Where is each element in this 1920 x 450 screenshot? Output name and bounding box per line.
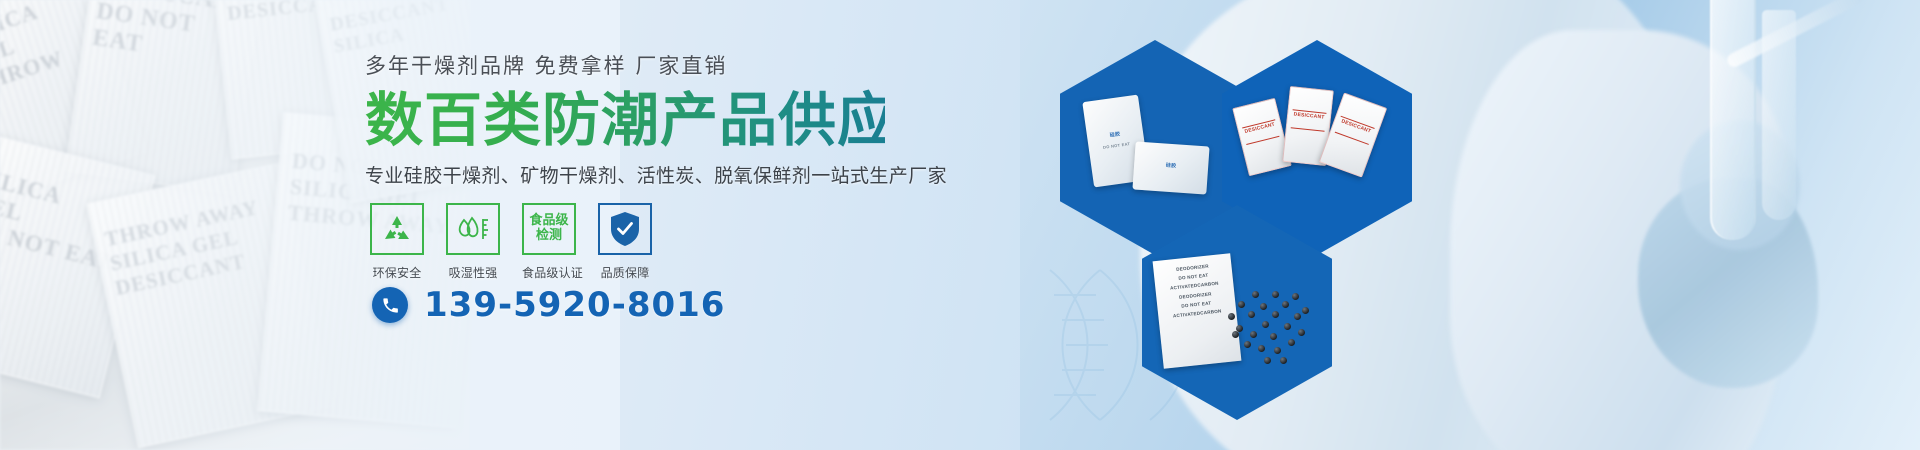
- phone-icon-circle: [372, 287, 408, 323]
- food-grade-line-2: 检测: [536, 229, 562, 244]
- packet-band-text-3: DESICCANT: [1335, 115, 1375, 145]
- badge-high-absorption[interactable]: 吸湿性强: [446, 203, 500, 281]
- phone-icon: [381, 296, 400, 315]
- badge-food-grade-box: 食品级 检测: [522, 203, 576, 255]
- food-grade-line-1: 食品级: [529, 214, 568, 229]
- banner-text-block: 多年干燥剂品牌 免费拿样 厂家直销 数百类防潮产品供应商 专业硅胶干燥剂、矿物干…: [365, 50, 885, 188]
- recycle-icon: [381, 214, 413, 244]
- packet-band-text-1: DESICCANT: [1242, 120, 1279, 145]
- desiccant-packet-1: DESICCANT: [1232, 98, 1292, 177]
- packet-band-text-2: DESICCANT: [1291, 109, 1327, 132]
- badge-eco-safe-label: 环保安全: [370, 264, 424, 281]
- promo-banner: SILICAGELTHROW DESICCANTDO NOTEAT THROW …: [0, 0, 1920, 450]
- badge-quality-assurance-label: 品质保障: [598, 264, 652, 281]
- contact-phone[interactable]: 139-5920-8016: [372, 285, 725, 325]
- silica-sachet-2: 硅胶: [1132, 141, 1209, 194]
- sachet-brand-text-2: 硅胶: [1134, 160, 1208, 172]
- banner-subline: 专业硅胶干燥剂、矿物干燥剂、活性炭、脱氧保鲜剂一站式生产厂家: [365, 161, 885, 188]
- phone-number: 139-5920-8016: [424, 285, 725, 325]
- badge-quality-assurance-box: [598, 203, 652, 255]
- product-hexagon-group: 硅胶 DO NOT EAT 硅胶 DESICCANT DESICCANT DES…: [1060, 10, 1480, 440]
- banner-headline: 数百类防潮产品供应商: [365, 88, 885, 153]
- banner-eyebrow: 多年干燥剂品牌 免费拿样 厂家直销: [365, 50, 885, 80]
- badge-food-grade-label: 食品级认证: [522, 264, 576, 281]
- shield-check-icon: [608, 210, 642, 248]
- moisture-drop-icon: [455, 214, 491, 244]
- badge-high-absorption-box: [446, 203, 500, 255]
- badge-high-absorption-label: 吸湿性强: [446, 264, 500, 281]
- badge-eco-safe-box: [370, 203, 424, 255]
- badge-eco-safe[interactable]: 环保安全: [370, 203, 424, 281]
- certification-badges: 环保安全 吸湿性强 食品: [370, 203, 652, 281]
- test-tube: [1710, 0, 1756, 240]
- badge-food-grade[interactable]: 食品级 检测 食品级认证: [522, 203, 576, 281]
- badge-quality-assurance[interactable]: 品质保障: [598, 203, 652, 281]
- carbon-pellets: [1224, 283, 1316, 367]
